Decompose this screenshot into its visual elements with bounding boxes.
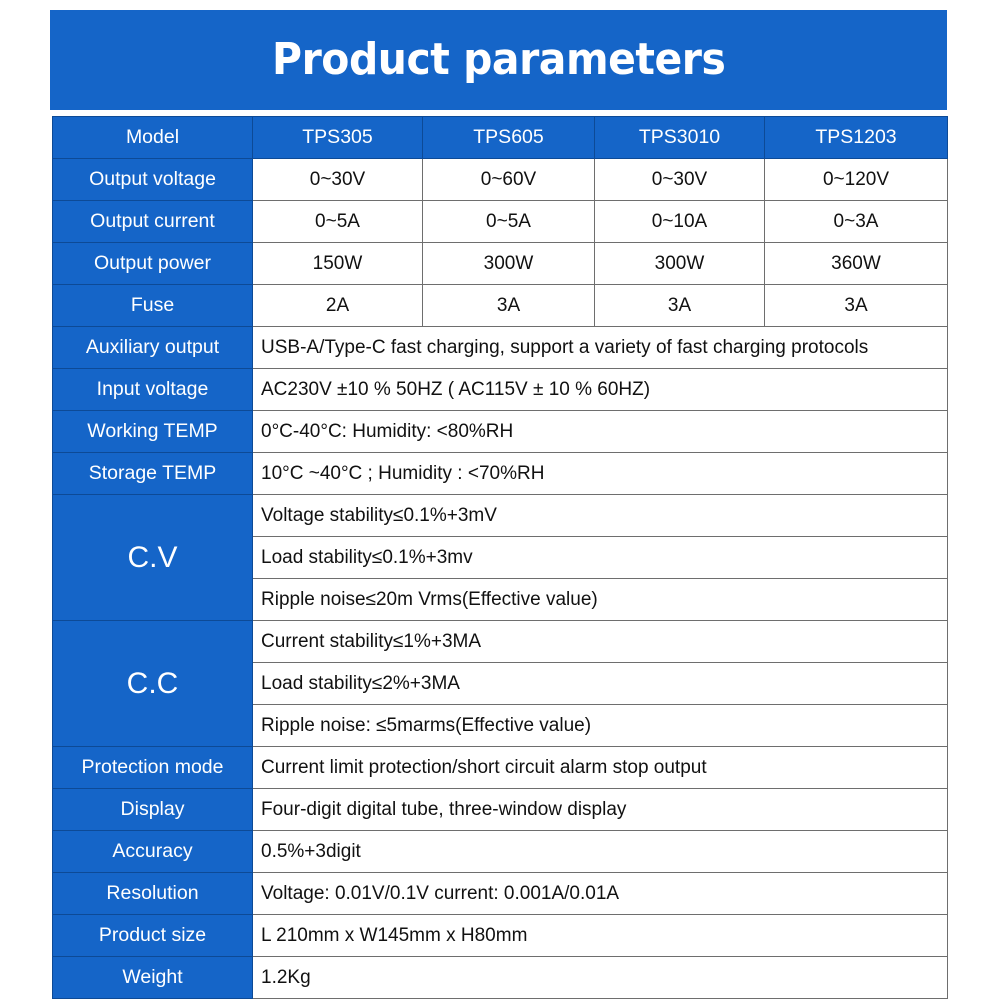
row-label-cv-group: C.V (53, 495, 253, 621)
row-label-product-size: Product size (53, 915, 253, 957)
cell-output-current-tps305: 0~5A (253, 201, 423, 243)
cell-cc-load-stability: Load stability≤2%+3MA (253, 663, 948, 705)
table-row: Product size L 210mm x W145mm x H80mm (53, 915, 948, 957)
page-title: Product parameters (272, 38, 725, 82)
cell-output-current-tps1203: 0~3A (765, 201, 948, 243)
row-label-accuracy: Accuracy (53, 831, 253, 873)
table-row: Weight 1.2Kg (53, 957, 948, 999)
table-row: Working TEMP 0°C-40°C: Humidity: <80%RH (53, 411, 948, 453)
table-row: C.C Current stability≤1%+3MA (53, 621, 948, 663)
cell-output-power-tps3010: 300W (595, 243, 765, 285)
table-row: Resolution Voltage: 0.01V/0.1V current: … (53, 873, 948, 915)
cell-output-power-tps305: 150W (253, 243, 423, 285)
cell-weight-value: 1.2Kg (253, 957, 948, 999)
cell-output-current-tps3010: 0~10A (595, 201, 765, 243)
table-row: C.V Voltage stability≤0.1%+3mV (53, 495, 948, 537)
row-label-output-voltage: Output voltage (53, 159, 253, 201)
row-label-working-temp: Working TEMP (53, 411, 253, 453)
row-label-cc-group: C.C (53, 621, 253, 747)
table-row: Accuracy 0.5%+3digit (53, 831, 948, 873)
table-header-row: Model TPS305 TPS605 TPS3010 TPS1203 (53, 117, 948, 159)
table-row: Display Four-digit digital tube, three-w… (53, 789, 948, 831)
row-label-input-voltage: Input voltage (53, 369, 253, 411)
header-cell-model: Model (53, 117, 253, 159)
cell-storage-temp-value: 10°C ~40°C ; Humidity : <70%RH (253, 453, 948, 495)
cell-output-power-tps605: 300W (423, 243, 595, 285)
product-parameters-sheet: Product parameters Model TPS305 TPS605 T… (0, 0, 1000, 1000)
cell-working-temp-value: 0°C-40°C: Humidity: <80%RH (253, 411, 948, 453)
table-row: Output power 150W 300W 300W 360W (53, 243, 948, 285)
table-row: Fuse 2A 3A 3A 3A (53, 285, 948, 327)
cell-output-voltage-tps305: 0~30V (253, 159, 423, 201)
table-row: Storage TEMP 10°C ~40°C ; Humidity : <70… (53, 453, 948, 495)
table-row: Auxiliary output USB-A/Type-C fast charg… (53, 327, 948, 369)
cell-output-voltage-tps605: 0~60V (423, 159, 595, 201)
cell-cc-ripple-noise: Ripple noise: ≤5marms(Effective value) (253, 705, 948, 747)
cell-input-voltage-value: AC230V ±10 % 50HZ ( AC115V ± 10 % 60HZ) (253, 369, 948, 411)
cell-fuse-tps605: 3A (423, 285, 595, 327)
specifications-table: Model TPS305 TPS605 TPS3010 TPS1203 Outp… (52, 116, 948, 999)
cell-display-value: Four-digit digital tube, three-window di… (253, 789, 948, 831)
header-cell-model-2: TPS605 (423, 117, 595, 159)
cell-cv-load-stability: Load stability≤0.1%+3mv (253, 537, 948, 579)
cell-cv-voltage-stability: Voltage stability≤0.1%+3mV (253, 495, 948, 537)
table-row: Output voltage 0~30V 0~60V 0~30V 0~120V (53, 159, 948, 201)
cell-output-voltage-tps1203: 0~120V (765, 159, 948, 201)
cell-protection-mode-value: Current limit protection/short circuit a… (253, 747, 948, 789)
cell-product-size-value: L 210mm x W145mm x H80mm (253, 915, 948, 957)
header-cell-model-1: TPS305 (253, 117, 423, 159)
table-row: Output current 0~5A 0~5A 0~10A 0~3A (53, 201, 948, 243)
header-cell-model-4: TPS1203 (765, 117, 948, 159)
row-label-auxiliary-output: Auxiliary output (53, 327, 253, 369)
row-label-output-current: Output current (53, 201, 253, 243)
cell-cc-current-stability: Current stability≤1%+3MA (253, 621, 948, 663)
header-cell-model-3: TPS3010 (595, 117, 765, 159)
cell-output-voltage-tps3010: 0~30V (595, 159, 765, 201)
cell-auxiliary-output-value: USB-A/Type-C fast charging, support a va… (253, 327, 948, 369)
cell-fuse-tps3010: 3A (595, 285, 765, 327)
row-label-display: Display (53, 789, 253, 831)
cell-cv-ripple-noise: Ripple noise≤20m Vrms(Effective value) (253, 579, 948, 621)
cell-accuracy-value: 0.5%+3digit (253, 831, 948, 873)
row-label-fuse: Fuse (53, 285, 253, 327)
row-label-storage-temp: Storage TEMP (53, 453, 253, 495)
cell-resolution-value: Voltage: 0.01V/0.1V current: 0.001A/0.01… (253, 873, 948, 915)
cell-output-current-tps605: 0~5A (423, 201, 595, 243)
row-label-output-power: Output power (53, 243, 253, 285)
table-row: Protection mode Current limit protection… (53, 747, 948, 789)
cell-fuse-tps305: 2A (253, 285, 423, 327)
title-banner: Product parameters (50, 10, 947, 110)
row-label-protection-mode: Protection mode (53, 747, 253, 789)
cell-output-power-tps1203: 360W (765, 243, 948, 285)
table-row: Input voltage AC230V ±10 % 50HZ ( AC115V… (53, 369, 948, 411)
cell-fuse-tps1203: 3A (765, 285, 948, 327)
row-label-resolution: Resolution (53, 873, 253, 915)
row-label-weight: Weight (53, 957, 253, 999)
